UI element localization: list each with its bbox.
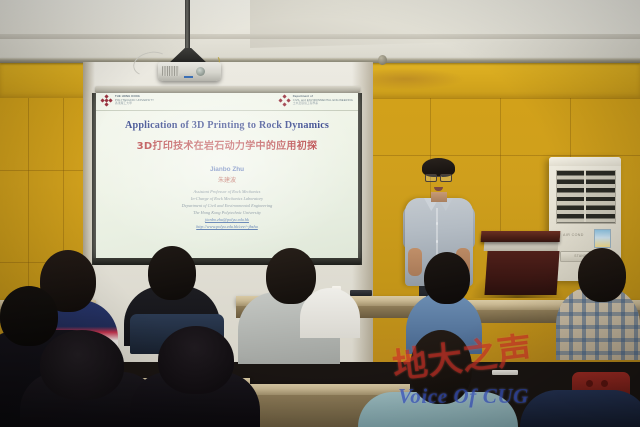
projector-mount-pole	[185, 0, 190, 52]
speaker-forearm-left	[408, 248, 422, 276]
projector-indicator-light	[184, 76, 193, 78]
projection-screen: THE HONG KONG POLYTECHNIC UNIVERSITY 香港理…	[96, 93, 358, 259]
polyu-diamond-logo-icon	[101, 95, 112, 106]
slide-subtitle-chinese: 3D打印技术在岩石动力学中的应用初探	[96, 137, 358, 152]
energy-label-sticker	[594, 229, 611, 248]
slide-affiliation-block: Assistant Professor of Rock Mechanics In…	[96, 189, 358, 231]
polyu-logo-text: THE HONG KONG POLYTECHNIC UNIVERSITY 香港理…	[115, 95, 154, 106]
slide-title: Application of 3D Printing to Rock Dynam…	[96, 120, 358, 131]
speaker-mouth	[434, 187, 443, 191]
ceiling-step	[0, 34, 640, 39]
eyeglasses-icon	[425, 174, 452, 180]
rail-knob	[378, 55, 387, 65]
affiliation-line: Assistant Professor of Rock Mechanics	[96, 189, 358, 196]
desk-device	[350, 290, 372, 296]
air-conditioner-top	[549, 157, 621, 166]
panel-seam	[500, 98, 501, 238]
screen-frame-bottom	[93, 258, 361, 265]
chair-hole	[601, 380, 608, 387]
student-head	[578, 248, 626, 302]
shirt-button	[436, 222, 439, 225]
wooden-lectern	[484, 251, 559, 295]
panel-seam	[570, 98, 571, 158]
polyu-logo: THE HONG KONG POLYTECHNIC UNIVERSITY 香港理…	[101, 95, 154, 106]
screen-roller-housing	[95, 86, 360, 93]
cee-department-crest-icon	[279, 95, 290, 106]
air-conditioner-grille	[556, 170, 616, 224]
affiliation-line: Department of Civil and Environmental En…	[96, 203, 358, 210]
chair-hole	[586, 380, 593, 387]
student-head	[424, 252, 470, 304]
slide-header-strip: THE HONG KONG POLYTECHNIC UNIVERSITY 香港理…	[96, 93, 358, 111]
slide-email-link: jianbo.zhu@polyu.edu.hk	[96, 217, 358, 224]
cee-logo-text: Department of CIVIL and ENVIRONMENTAL EN…	[293, 95, 353, 106]
panel-seam	[373, 98, 640, 99]
slide-author-name: Jianbo Zhu	[96, 166, 358, 173]
shirt-button	[436, 240, 439, 243]
student-head	[148, 246, 196, 300]
affiliation-line: In-Charge of Rock Mechanics Laboratory	[96, 196, 358, 203]
air-conditioner-grille-divider	[584, 170, 586, 222]
projector-lens-icon	[196, 67, 205, 76]
watermark-english: Voice Of CUG	[398, 384, 529, 409]
projector-vent	[162, 66, 179, 76]
student-head	[40, 330, 124, 400]
student-shoulders	[520, 390, 640, 427]
lectern-midband	[484, 242, 559, 251]
panel-seam	[0, 170, 84, 171]
student-head	[0, 286, 58, 346]
lectern-top	[481, 231, 561, 242]
student-head	[158, 326, 234, 394]
panel-seam	[373, 155, 640, 156]
slide-author-name-chinese: 朱建波	[96, 175, 358, 184]
air-conditioner-brand-text: AIR COND	[563, 233, 584, 237]
lecture-hall-photo: THE HONG KONG POLYTECHNIC UNIVERSITY 香港理…	[0, 0, 640, 427]
cee-department-logo: Department of CIVIL and ENVIRONMENTAL EN…	[279, 95, 353, 106]
affiliation-line: The Hong Kong Polytechnic University	[96, 210, 358, 217]
slide-website-link: http://www.polyu.edu.hk/cee/~jbzhu	[96, 224, 358, 231]
